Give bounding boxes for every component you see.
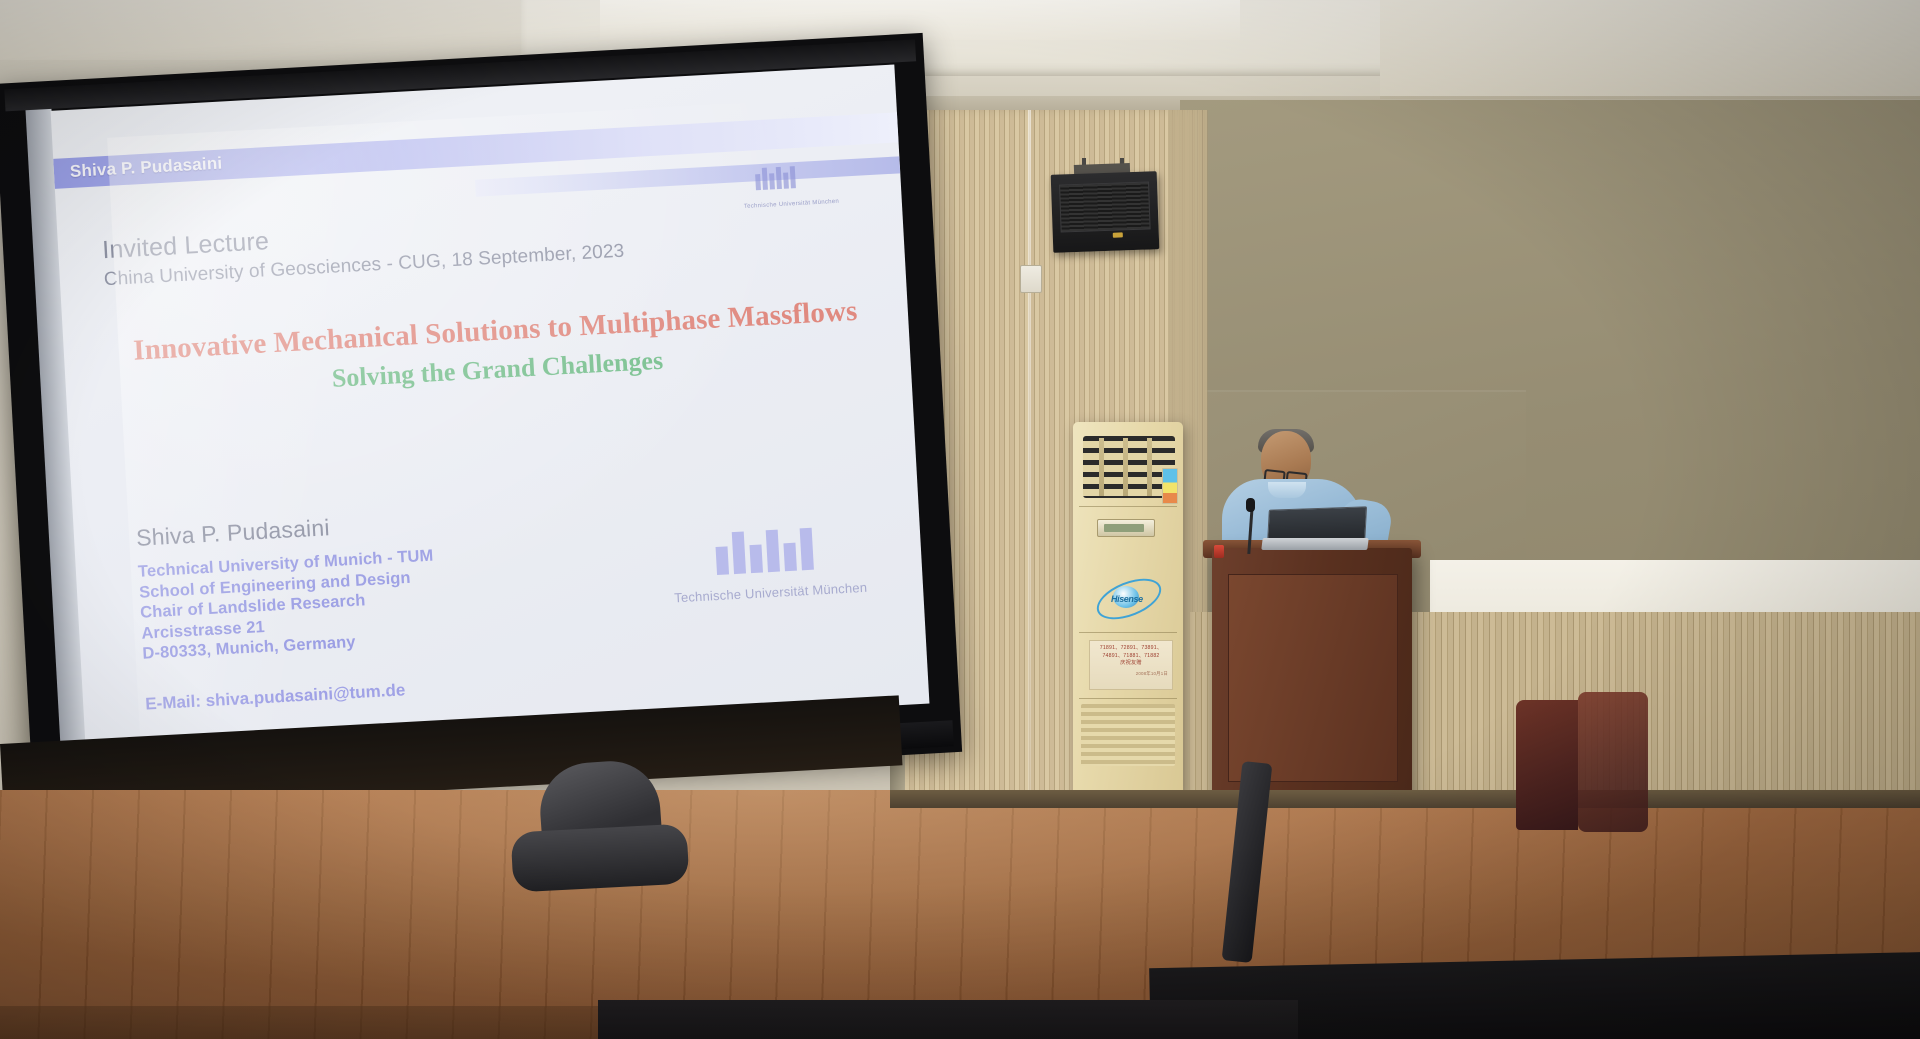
wall-switch[interactable] [1020,265,1042,293]
email-label: E-Mail: [145,692,202,714]
tum-logo-icon [715,528,814,575]
ac-notice-date: 2008年10月1日 [1090,670,1172,678]
ac-energy-rating-label [1162,468,1178,504]
projection-screen: Shiva P. Pudasaini Technische Universitä… [0,33,962,803]
slide-email-line: E-Mail: shiva.pudasaini@tum.de [145,680,406,714]
presenter-shirt-collar [1268,482,1306,498]
foreground-floor-shade [0,1006,640,1039]
ac-notice-line-1: 71891、72891、73891、 [1090,645,1172,653]
standing-air-conditioner[interactable]: Hisense 71891、72891、73891、 74891、71881、7… [1073,422,1183,797]
ac-control-display[interactable] [1097,519,1155,537]
speaker-power-led [1113,232,1123,237]
laptop-keyboard-base[interactable] [1261,538,1368,550]
ac-panel-seam [1079,698,1177,699]
ac-panel-seam [1079,506,1177,507]
wall-slat-seam [1028,110,1031,810]
ac-donation-notice-sticker: 71891、72891、73891、 74891、71881、71882 庆祝友… [1089,640,1173,690]
podium-indicator-lamp [1214,545,1224,558]
foreground-chair-seat [511,823,690,892]
ac-brand-logo-icon: Hisense [1095,572,1161,622]
podium-front-panel [1228,574,1398,782]
tum-logo-subtitle: Technische Universität München [674,580,868,606]
slide-author-name: Shiva P. Pudasaini [135,514,330,552]
ac-display-screen [1104,524,1144,532]
foreground-desk-center [598,1000,1298,1039]
wall-loudspeaker [1051,171,1160,253]
foreground-chair-right [1516,700,1578,830]
microphone-head-icon [1246,498,1255,512]
ac-notice-line-3: 庆祝友赠 [1090,660,1172,668]
floor-baseboard [890,790,1920,808]
foreground-chair-right-second [1578,692,1648,832]
slide-affiliation-block: Technical University of Munich - TUM Sch… [137,546,438,665]
ac-vent-tab [1147,438,1152,496]
ac-vent-tab [1123,438,1128,496]
ceiling-beam [1380,0,1920,99]
tum-logo-small-icon [755,166,796,190]
lecture-hall-photo: Shiva P. Pudasaini Technische Universitä… [0,0,1920,1039]
slide-header-band [475,156,900,196]
ac-vent-tab [1099,438,1104,496]
slide-surface: Shiva P. Pudasaini Technische Universitä… [51,64,930,749]
ac-panel-seam [1079,632,1177,633]
tum-logo-small-subtitle: Technische Universität München [744,199,840,210]
email-address: shiva.pudasaini@tum.de [205,680,406,710]
ac-intake-grille [1081,704,1175,766]
ac-notice-line-2: 74891、71881、71882 [1090,653,1172,661]
ac-brand-text: Hisense [1111,594,1143,604]
speaker-grille [1059,181,1151,232]
slide-kicker: Invited Lecture [102,227,270,265]
